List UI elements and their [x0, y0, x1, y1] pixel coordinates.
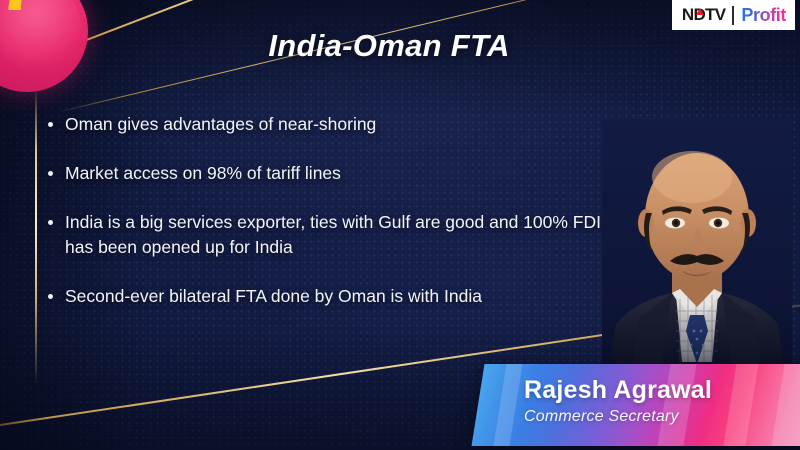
speaker-name: Rajesh Agrawal: [524, 375, 800, 405]
list-item: Market access on 98% of tariff lines: [48, 161, 608, 186]
speaker-designation: Commerce Secretary: [524, 408, 800, 426]
bullet-text: India is a big services exporter, ties w…: [65, 210, 608, 260]
speaker-name-inner: Rajesh Agrawal Commerce Secretary: [478, 364, 800, 446]
speaker-name-banner: Rajesh Agrawal Commerce Secretary: [472, 364, 800, 446]
page-title: India-Oman FTA: [0, 28, 800, 64]
bullet-dot-icon: [48, 220, 53, 225]
bullet-text: Oman gives advantages of near-shoring: [65, 112, 608, 137]
portrait-bottom-shadow: [602, 304, 792, 364]
profit-wordmark: Profit: [741, 5, 786, 26]
logo-separator: [732, 6, 734, 25]
broadcast-lower-third-screen: “ India-Oman FTA NDTV Profit Oman gives …: [0, 0, 800, 450]
bullet-list: Oman gives advantages of near-shoring Ma…: [48, 112, 608, 333]
list-item: Oman gives advantages of near-shoring: [48, 112, 608, 137]
bullet-dot-icon: [48, 171, 53, 176]
ndtv-red-triangle-icon: [696, 8, 704, 15]
quote-glyph: “: [0, 0, 33, 56]
speaker-portrait: [602, 119, 792, 364]
ndtv-profit-logo: NDTV Profit: [672, 0, 795, 30]
bullet-dot-icon: [48, 122, 53, 127]
gold-vertical-line: [35, 86, 37, 386]
ndtv-wordmark: NDTV: [682, 5, 725, 25]
bullet-dot-icon: [48, 294, 53, 299]
list-item: India is a big services exporter, ties w…: [48, 210, 608, 260]
list-item: Second-ever bilateral FTA done by Oman i…: [48, 284, 608, 309]
bullet-text: Second-ever bilateral FTA done by Oman i…: [65, 284, 608, 309]
bullet-text: Market access on 98% of tariff lines: [65, 161, 608, 186]
